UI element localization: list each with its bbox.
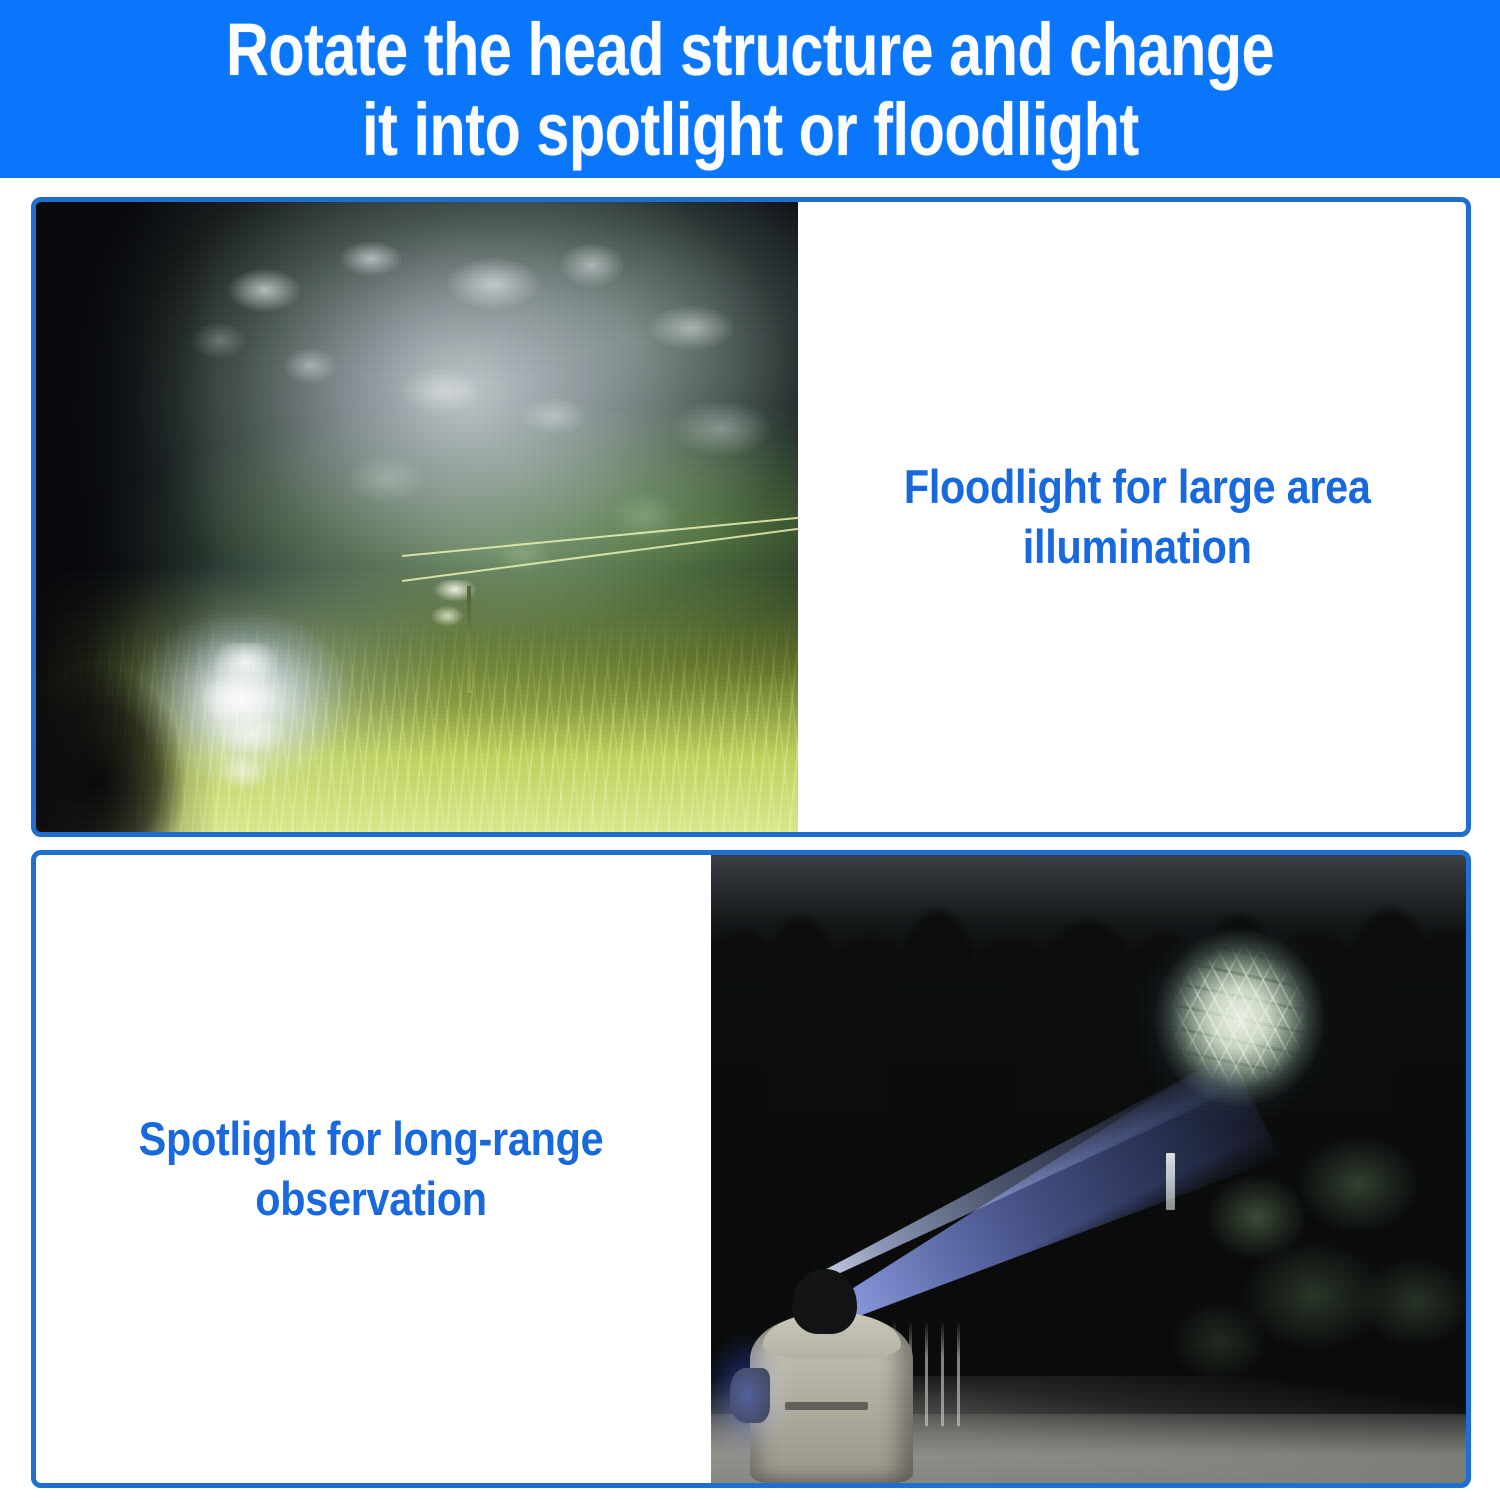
spotlight-blue-ambient-glow (711, 1332, 802, 1458)
floodlight-dark-vignette (36, 202, 798, 832)
floodlight-photo (36, 202, 798, 832)
person-head (792, 1269, 857, 1333)
floodlight-caption-pane: Floodlight for large area illumination (798, 202, 1466, 832)
spotlight-caption: Spotlight for long-range observation (138, 1109, 603, 1229)
floodlight-caption: Floodlight for large area illumination (904, 457, 1371, 577)
banner-headline-line-1: Rotate the head structure and change (226, 10, 1274, 90)
banner-headline-line-2: it into spotlight or floodlight (362, 90, 1139, 170)
header-banner: Rotate the head structure and change it … (0, 0, 1500, 178)
floodlight-panel: Floodlight for large area illumination (31, 197, 1471, 837)
spotlight-photo (711, 855, 1466, 1483)
spotlight-caption-pane: Spotlight for long-range observation (36, 855, 711, 1483)
spotlight-panel: Spotlight for long-range observation (31, 850, 1471, 1488)
